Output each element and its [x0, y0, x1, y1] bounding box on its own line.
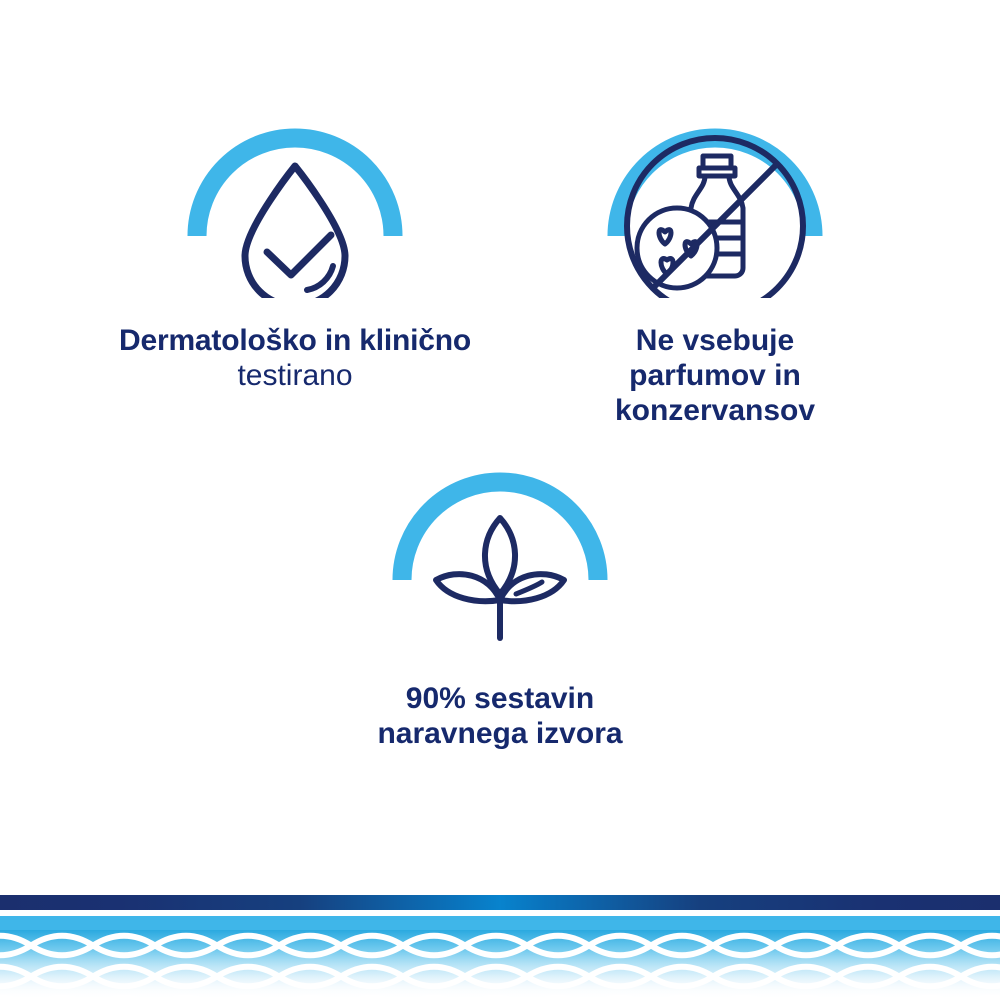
feature-caption: Dermatološko in klinično testirano — [45, 324, 545, 394]
diamond-mesh-gradient — [0, 930, 1000, 1000]
feature-caption: 90% sestavin naravnega izvora — [350, 682, 650, 752]
plant-leaf-icon — [350, 452, 650, 642]
sky-blue-bar — [0, 916, 1000, 930]
caption-line-2: parfumov in — [565, 359, 865, 394]
page-canvas: Dermatološko in klinično testirano — [0, 0, 1000, 1000]
feature-no-perfume: Ne vsebuje parfumov in konzervansov — [565, 108, 865, 428]
water-droplet-check-icon — [45, 108, 545, 298]
mesh-net-overlay — [0, 930, 1000, 1000]
feature-caption: Ne vsebuje parfumov in konzervansov — [565, 324, 865, 428]
caption-line-2: testirano — [45, 359, 545, 394]
caption-line-1: 90% sestavin — [350, 682, 650, 717]
decorative-wave-band — [0, 890, 1000, 1000]
feature-natural-origin: 90% sestavin naravnega izvora — [350, 452, 650, 752]
caption-line-3: konzervansov — [565, 394, 865, 429]
no-perfume-bottle-icon — [565, 108, 865, 298]
droplet-shine-arc — [307, 266, 333, 290]
check-mark-icon — [267, 235, 331, 275]
caption-line-1: Ne vsebuje — [565, 324, 865, 359]
flower-icon — [637, 208, 717, 288]
feature-dermatologically-tested: Dermatološko in klinično testirano — [45, 108, 545, 394]
navy-gradient-bar — [0, 895, 1000, 910]
caption-line-2: naravnega izvora — [350, 717, 650, 752]
leaf-center — [485, 518, 515, 594]
arc-accent — [197, 138, 393, 236]
caption-line-1: Dermatološko in klinično — [45, 324, 545, 359]
prohibition-sign-group — [627, 138, 803, 298]
